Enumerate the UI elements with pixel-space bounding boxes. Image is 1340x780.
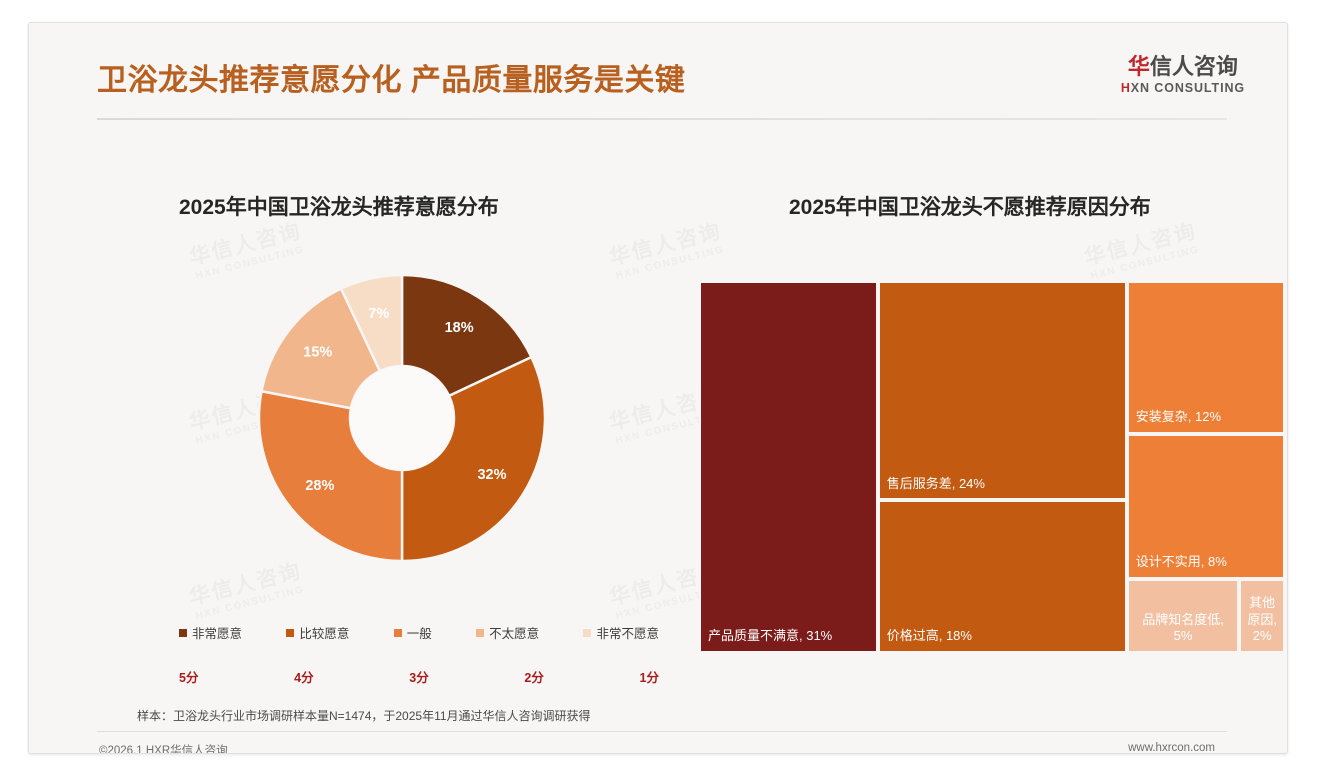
legend-item[interactable]: 比较愿意	[286, 623, 349, 642]
legend-label: 不太愿意	[489, 623, 539, 642]
logo-chinese-rest: 信人咨询	[1150, 54, 1238, 79]
company-logo: 华信人咨询 HXN CONSULTING	[1121, 55, 1245, 95]
treemap-tile-label: 安装复杂, 12%	[1136, 409, 1278, 426]
treemap-tile-label: 设计不实用, 8%	[1136, 554, 1278, 571]
donut-slice-label: 28%	[305, 478, 334, 494]
footer-copyright: ©2026.1 HXR华信人咨询	[99, 742, 228, 754]
legend-item[interactable]: 非常愿意	[179, 623, 242, 642]
recommendation-donut-chart: 18%32%28%15%7%	[257, 273, 547, 563]
treemap-tile[interactable]: 价格过高, 18%	[878, 500, 1127, 653]
score-label: 5分	[179, 667, 198, 686]
legend-label: 非常不愿意	[596, 623, 659, 642]
donut-slice-label: 32%	[477, 467, 506, 483]
source-footnote: 样本：卫浴龙头行业市场调研样本量N=1474，于2025年11月通过华信人咨询调…	[137, 707, 591, 724]
treemap-tile[interactable]: 安装复杂, 12%	[1127, 281, 1285, 434]
treemap-tile[interactable]: 品牌知名度低, 5%	[1127, 579, 1240, 653]
treemap-tile[interactable]: 设计不实用, 8%	[1127, 434, 1285, 579]
legend-swatch	[476, 629, 484, 637]
logo-english-rest: XN CONSULTING	[1131, 81, 1245, 95]
legend-label: 比较愿意	[299, 623, 349, 642]
slide: 卫浴龙头推荐意愿分化 产品质量服务是关键 华信人咨询 HXN CONSULTIN…	[28, 22, 1288, 754]
slide-header: 卫浴龙头推荐意愿分化 产品质量服务是关键 华信人咨询 HXN CONSULTIN…	[29, 23, 1287, 123]
legend-item[interactable]: 非常不愿意	[583, 623, 659, 642]
score-label: 2分	[524, 667, 543, 686]
treemap-tile-label: 其他原因, 2%	[1244, 595, 1280, 645]
legend-item[interactable]: 一般	[394, 623, 432, 642]
header-divider	[97, 118, 1227, 120]
watermark: 华信人咨询HXN CONSULTING	[1081, 215, 1203, 283]
logo-chinese: 华信人咨询	[1121, 55, 1245, 78]
treemap-tile-label: 品牌知名度低, 5%	[1132, 612, 1235, 645]
donut-svg: 18%32%28%15%7%	[257, 273, 547, 563]
treemap-tile[interactable]: 产品质量不满意, 31%	[699, 281, 878, 653]
score-label: 1分	[640, 667, 659, 686]
legend-label: 非常愿意	[192, 623, 242, 642]
score-label: 4分	[294, 667, 313, 686]
treemap-tile[interactable]: 其他原因, 2%	[1239, 579, 1285, 653]
treemap-tile-label: 产品质量不满意, 31%	[708, 628, 871, 645]
donut-legend: 非常愿意比较愿意一般不太愿意非常不愿意	[179, 623, 659, 642]
logo-english: HXN CONSULTING	[1121, 81, 1245, 95]
left-chart-title: 2025年中国卫浴龙头推荐意愿分布	[179, 191, 499, 221]
legend-swatch	[583, 629, 591, 637]
footer-website: www.hxrcon.com	[1128, 742, 1215, 754]
legend-item[interactable]: 不太愿意	[476, 623, 539, 642]
logo-chinese-first: 华	[1128, 54, 1150, 79]
logo-english-first: H	[1121, 81, 1131, 95]
watermark: 华信人咨询HXN CONSULTING	[606, 215, 728, 283]
watermark: 华信人咨询HXN CONSULTING	[186, 555, 308, 623]
legend-swatch	[394, 629, 402, 637]
treemap-tile-label: 售后服务差, 24%	[887, 476, 1120, 493]
right-chart-title: 2025年中国卫浴龙头不愿推荐原因分布	[789, 191, 1151, 221]
treemap-tile-label: 价格过高, 18%	[887, 628, 1120, 645]
page-title: 卫浴龙头推荐意愿分化 产品质量服务是关键	[97, 55, 685, 99]
donut-slice-label: 15%	[303, 344, 332, 360]
legend-swatch	[179, 629, 187, 637]
footer-divider	[97, 731, 1227, 732]
treemap-tile[interactable]: 售后服务差, 24%	[878, 281, 1127, 500]
legend-swatch	[286, 629, 294, 637]
reason-treemap-chart: 产品质量不满意, 31%售后服务差, 24%价格过高, 18%安装复杂, 12%…	[699, 281, 1285, 653]
donut-slice-label: 18%	[445, 320, 474, 336]
donut-hole	[350, 366, 454, 470]
donut-slice-label: 7%	[368, 306, 389, 322]
score-scale-row: 5分4分3分2分1分	[179, 667, 659, 686]
score-label: 3分	[409, 667, 428, 686]
legend-label: 一般	[407, 623, 432, 642]
